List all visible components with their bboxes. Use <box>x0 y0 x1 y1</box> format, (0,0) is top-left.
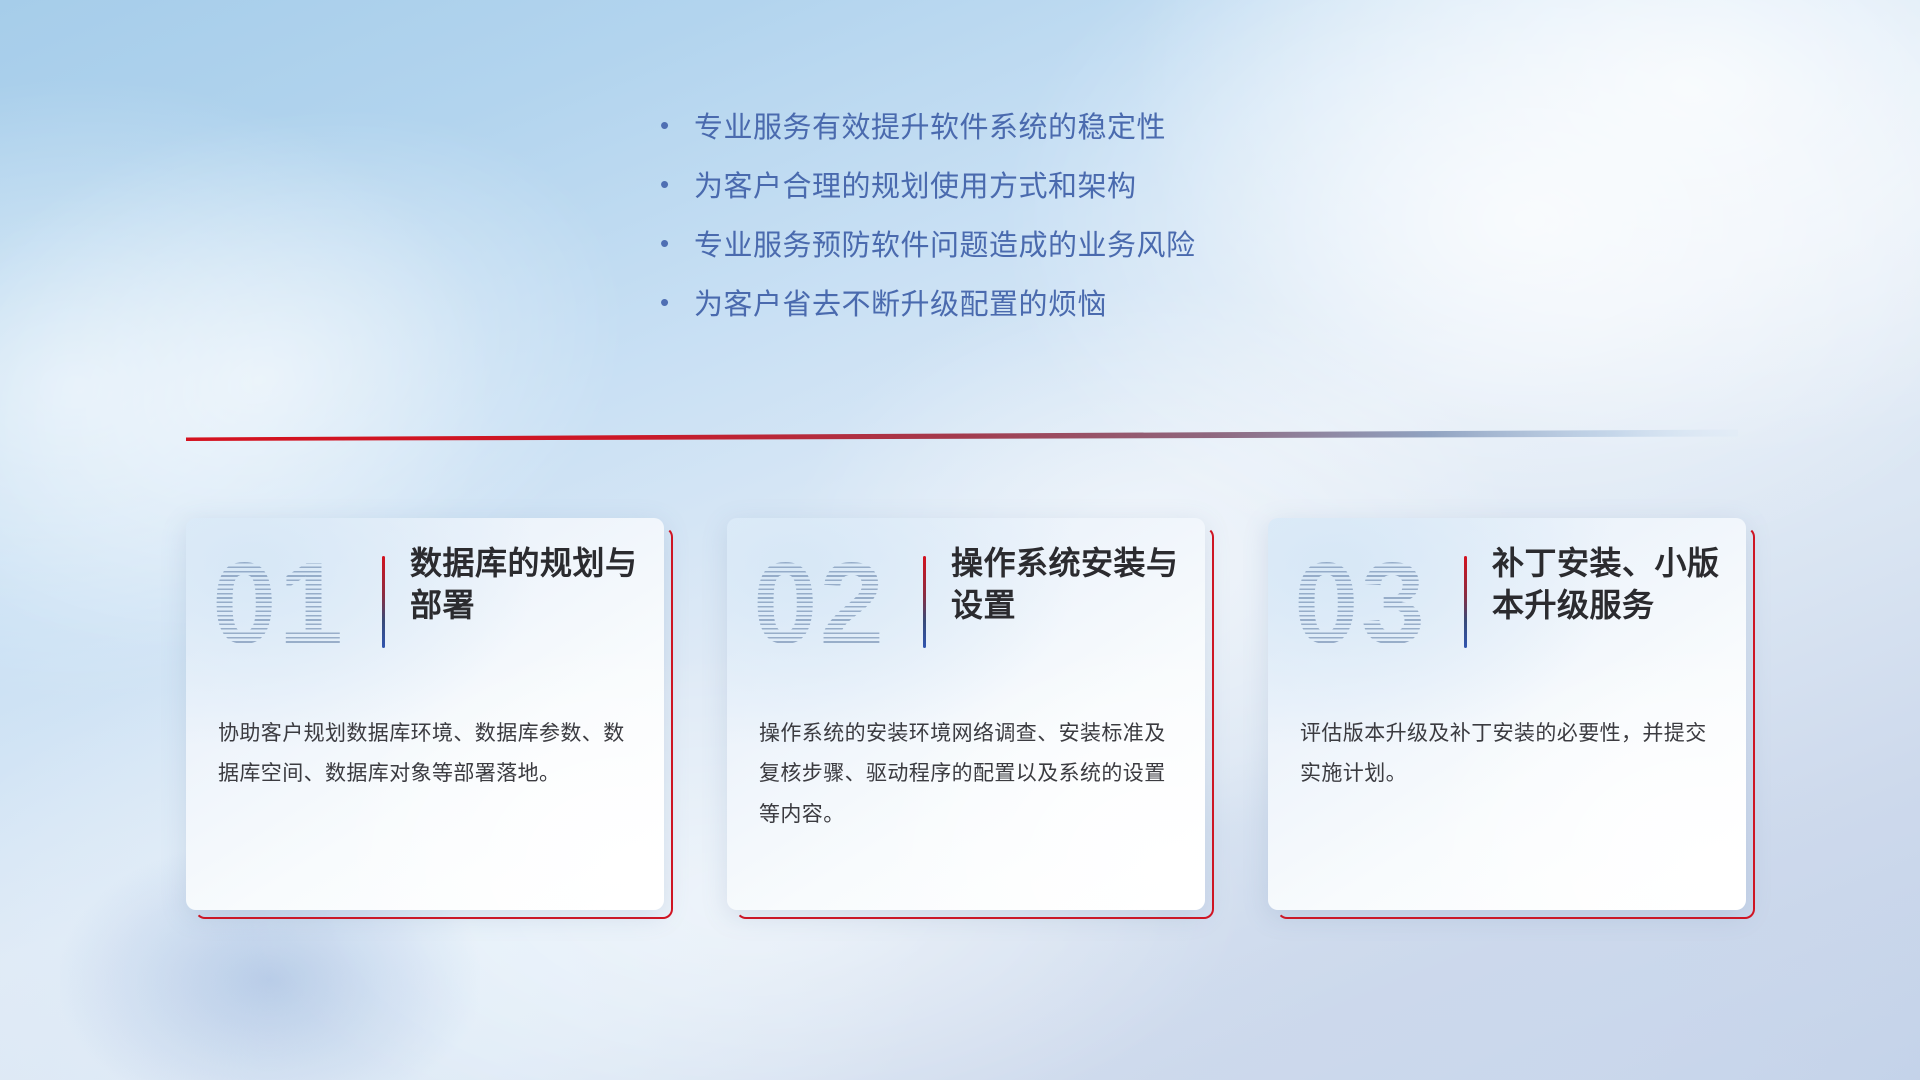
card-vertical-rule <box>923 556 926 648</box>
card-header: 02 操作系统安装与设置 <box>727 518 1205 688</box>
service-card[interactable]: 01 数据库的规划与部署 协助客户规划数据库环境、数据库参数、数据库空间、数据库… <box>186 518 664 910</box>
card-header: 03 补丁安装、小版本升级服务 <box>1268 518 1746 688</box>
list-item: • 专业服务有效提升软件系统的稳定性 <box>660 110 1420 147</box>
card-number: 02 <box>753 540 903 666</box>
card-body: 01 数据库的规划与部署 协助客户规划数据库环境、数据库参数、数据库空间、数据库… <box>186 518 664 910</box>
service-card-list: 01 数据库的规划与部署 协助客户规划数据库环境、数据库参数、数据库空间、数据库… <box>186 518 1746 918</box>
service-card[interactable]: 03 补丁安装、小版本升级服务 评估版本升级及补丁安装的必要性，并提交实施计划。 <box>1268 518 1746 910</box>
card-header: 01 数据库的规划与部署 <box>186 518 664 688</box>
card-title: 补丁安装、小版本升级服务 <box>1492 542 1730 626</box>
bullet-dot-icon: • <box>660 171 694 197</box>
bullet-text: 为客户省去不断升级配置的烦恼 <box>694 287 1107 324</box>
card-number: 01 <box>212 540 362 666</box>
bullet-text: 专业服务预防软件问题造成的业务风险 <box>694 228 1196 265</box>
card-body: 03 补丁安装、小版本升级服务 评估版本升级及补丁安装的必要性，并提交实施计划。 <box>1268 518 1746 910</box>
list-item: • 专业服务预防软件问题造成的业务风险 <box>660 228 1420 265</box>
bullet-dot-icon: • <box>660 230 694 256</box>
bullet-dot-icon: • <box>660 112 694 138</box>
list-item: • 为客户合理的规划使用方式和架构 <box>660 169 1420 206</box>
card-vertical-rule <box>1464 556 1467 648</box>
card-title: 操作系统安装与设置 <box>951 542 1189 626</box>
bullet-text: 专业服务有效提升软件系统的稳定性 <box>694 110 1166 147</box>
service-card[interactable]: 02 操作系统安装与设置 操作系统的安装环境网络调查、安装标准及复核步骤、驱动程… <box>727 518 1205 910</box>
bullet-dot-icon: • <box>660 289 694 315</box>
card-description: 评估版本升级及补丁安装的必要性，并提交实施计划。 <box>1300 714 1714 795</box>
benefits-bullet-list: • 专业服务有效提升软件系统的稳定性 • 为客户合理的规划使用方式和架构 • 专… <box>660 110 1420 346</box>
card-body: 02 操作系统安装与设置 操作系统的安装环境网络调查、安装标准及复核步骤、驱动程… <box>727 518 1205 910</box>
gradient-divider <box>186 428 1738 442</box>
slide-canvas: • 专业服务有效提升软件系统的稳定性 • 为客户合理的规划使用方式和架构 • 专… <box>0 0 1920 1080</box>
bullet-text: 为客户合理的规划使用方式和架构 <box>694 169 1137 206</box>
card-description: 协助客户规划数据库环境、数据库参数、数据库空间、数据库对象等部署落地。 <box>218 714 632 795</box>
divider-shape-icon <box>186 428 1738 442</box>
list-item: • 为客户省去不断升级配置的烦恼 <box>660 287 1420 324</box>
card-vertical-rule <box>382 556 385 648</box>
card-number: 03 <box>1294 540 1444 666</box>
card-description: 操作系统的安装环境网络调查、安装标准及复核步骤、驱动程序的配置以及系统的设置等内… <box>759 714 1173 835</box>
card-title: 数据库的规划与部署 <box>410 542 648 626</box>
